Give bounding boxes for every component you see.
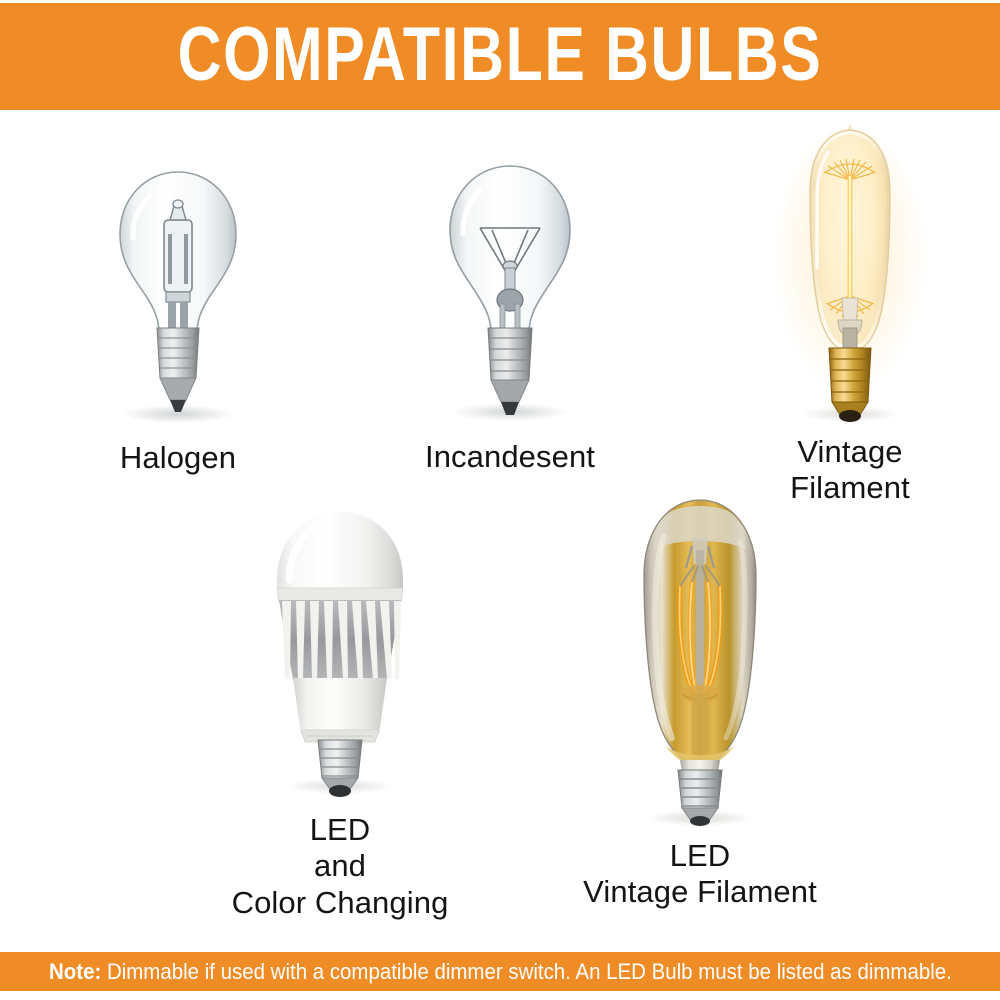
bulb-label-halogen: Halogen — [120, 440, 236, 476]
bulb-card-halogen[interactable]: Halogen — [38, 162, 318, 476]
bulb-card-led-vintage-filament[interactable]: LED Vintage Filament — [520, 490, 880, 911]
incandescent-bulb-icon — [430, 156, 590, 431]
bulb-card-led[interactable]: LED and Color Changing — [180, 502, 500, 921]
bulb-label-incandescent: Incandesent — [425, 439, 595, 475]
led-bulb-icon — [255, 502, 425, 802]
note-banner: Note: Dimmable if used with a compatible… — [0, 952, 1000, 991]
note-label: Note: — [49, 959, 101, 984]
led-vintage-filament-bulb-icon — [600, 490, 800, 830]
bulb-label-led: LED and Color Changing — [232, 812, 449, 921]
halogen-bulb-icon — [98, 162, 258, 432]
header-banner: COMPATIBLE BULBS — [0, 3, 1000, 110]
bulb-label-led-vintage-filament: LED Vintage Filament — [583, 838, 817, 911]
bulb-card-vintage-filament[interactable]: Vintage Filament — [710, 118, 990, 507]
bulb-card-incandescent[interactable]: Incandesent — [370, 156, 650, 475]
vintage-filament-bulb-icon — [770, 118, 930, 428]
note-text: Note: Dimmable if used with a compatible… — [49, 961, 952, 983]
note-body: Dimmable if used with a compatible dimme… — [101, 959, 952, 984]
page-title: COMPATIBLE BULBS — [178, 17, 823, 93]
bulb-gallery: Halogen — [0, 110, 1000, 952]
